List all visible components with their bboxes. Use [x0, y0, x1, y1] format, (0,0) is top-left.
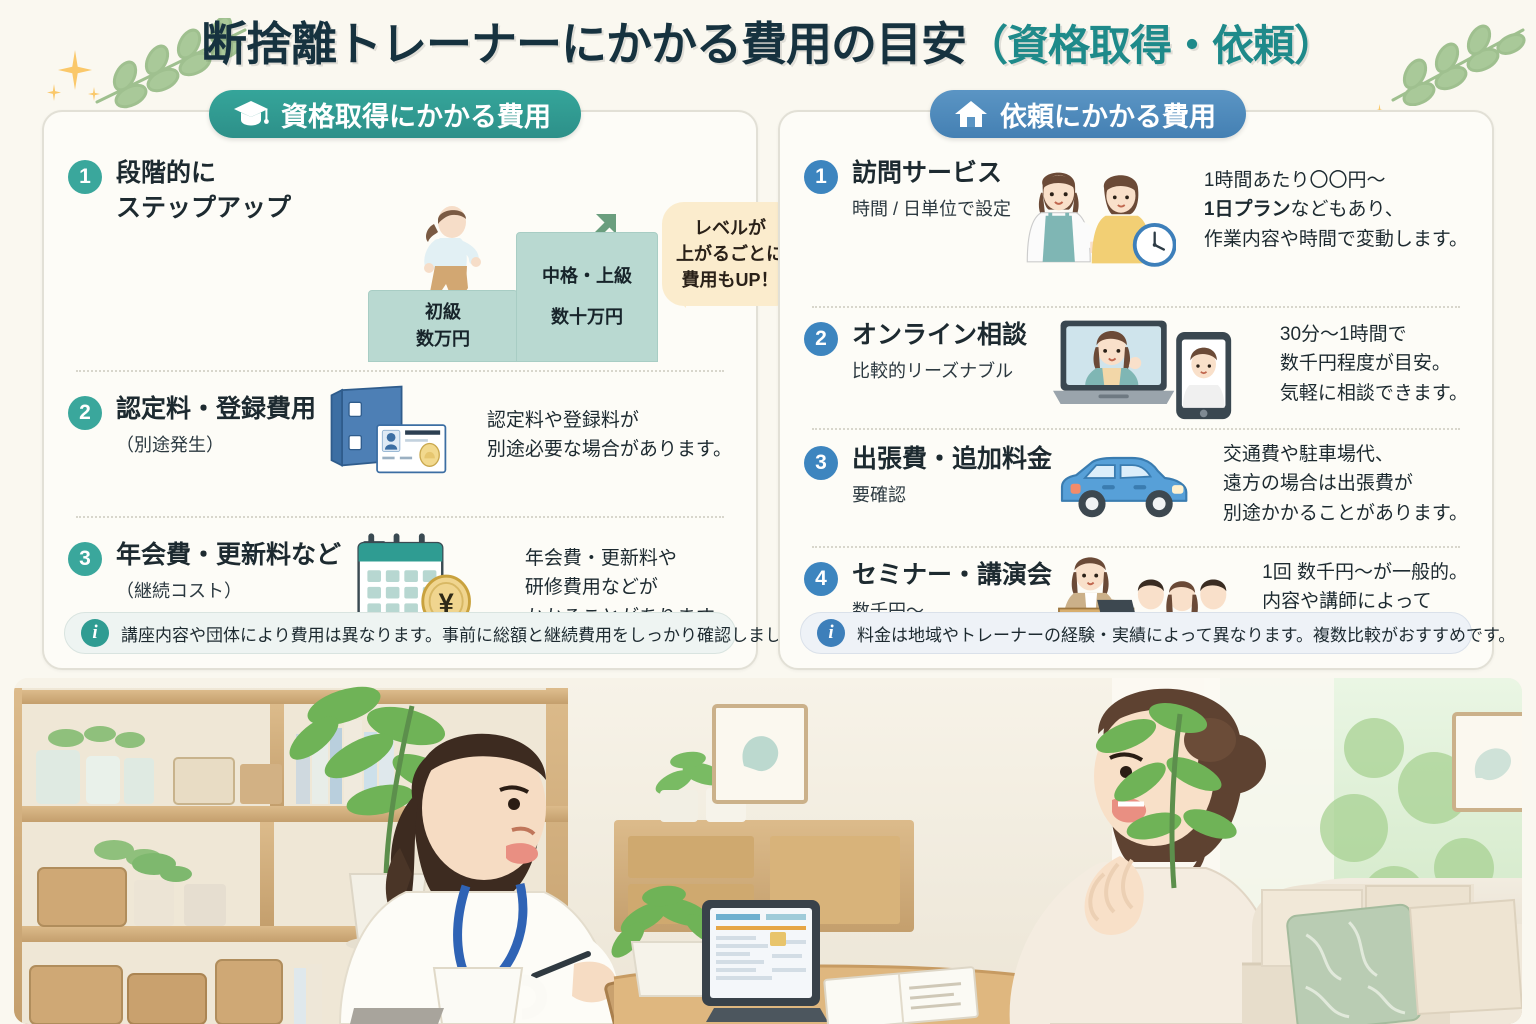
info-icon: i [817, 619, 845, 647]
stairs-chart: 初級 数万円 中格・上級 数十万円 [368, 202, 658, 362]
step-beginner: 初級 数万円 [368, 290, 518, 362]
laptop-smartphone-videocall-icon [1053, 312, 1252, 422]
item-title-line2: ステップアップ [116, 193, 346, 224]
item-number-badge: 2 [68, 396, 102, 430]
list-item-request-3: 3 出張費・追加料金 要確認 交通費や駐車場代、 遠方の場合は出 [804, 430, 1468, 546]
blue-car-icon [1052, 440, 1195, 536]
desc-line-3: 別途かかることがあります。 [1223, 499, 1468, 528]
step-beginner-label: 初級 [425, 299, 461, 326]
list-item-qualification-2: 2 認定料・登録費用 （別途発生） [68, 372, 732, 516]
item-title: セミナー・講演会 [852, 560, 1052, 591]
list-item-request-2: 2 オンライン相談 比較的リーズナブル [804, 308, 1468, 428]
desc-line-1: 認定料や登録料が [487, 406, 732, 435]
desc-line-2: 遠方の場合は出張費が [1223, 469, 1468, 498]
item-title: 出張費・追加料金 [852, 444, 1052, 475]
two-women-talking-clock-icon [1015, 146, 1176, 284]
item-subtitle: 時間 / 日単位で設定 [852, 195, 1015, 221]
item-heading: 認定料・登録費用 （別途発生） [116, 394, 317, 457]
panel-qualification-cost: 資格取得にかかる費用 1 段階的に ステップアップ [42, 110, 758, 670]
item-number-badge: 2 [804, 322, 838, 356]
bubble-line-1: レベルが [694, 215, 766, 241]
item-number-badge: 1 [68, 160, 102, 194]
desc-line-2: 研修費用などが [525, 573, 732, 602]
desc-line-1: 1時間あたり〇〇円〜 [1204, 166, 1468, 195]
desc-bold: 1日プラン [1204, 199, 1291, 220]
note-text: 講座内容や団体により費用は異なります。事前に総額と継続費用をしっかり確認しましょ… [121, 621, 832, 646]
panel-request-cost: 依頼にかかる費用 1 訪問サービス 時間 / 日単位で設定 [778, 110, 1494, 670]
step-beginner-amount: 数万円 [416, 326, 470, 353]
item-number-badge: 4 [804, 562, 838, 596]
item-subtitle: （別途発生） [116, 431, 317, 457]
title-zone: 断捨離トレーナーにかかる費用の目安（資格取得・依頼） [0, 0, 1536, 90]
desc-line-3: 気軽に相談できます。 [1280, 379, 1468, 408]
item-heading: オンライン相談 比較的リーズナブル [852, 320, 1053, 383]
bubble-line-3: 費用もUP！ [681, 267, 778, 293]
step-advanced-label: 中格・上級 [542, 263, 632, 290]
step-advanced: 中格・上級 数十万円 [516, 232, 658, 362]
desc-line-2: 1日プランなどもあり、 [1204, 195, 1468, 224]
item-title: 年会費・更新料など [116, 540, 341, 571]
desc-line-2: 数千円程度が目安。 [1280, 349, 1468, 378]
sparkle-small-icon [47, 84, 61, 101]
desc-rest: などもあり、 [1290, 199, 1403, 220]
panel-left-body: 1 段階的に ステップアップ [44, 112, 756, 668]
sparkle-tiny-icon [88, 87, 100, 101]
item-heading: 年会費・更新料など （継続コスト） [116, 540, 341, 603]
desc-line-1: 交通費や駐車場代、 [1223, 440, 1468, 469]
desc-line-3: 作業内容や時間で変動します。 [1204, 225, 1468, 254]
info-icon: i [81, 619, 109, 647]
note-text: 料金は地域やトレーナーの経験・実績によって異なります。複数比較がおすすめです。 [857, 621, 1515, 646]
binder-certificate-icon [321, 378, 452, 488]
item-title: 認定料・登録費用 [116, 394, 317, 425]
item-subtitle: 比較的リーズナブル [852, 357, 1053, 383]
page-title-main: 断捨離トレーナーにかかる費用の目安 [201, 18, 966, 70]
item-heading: 訪問サービス 時間 / 日単位で設定 [852, 158, 1015, 221]
photo-consultation-scene [14, 678, 1522, 1024]
note-bar-left: i 講座内容や団体により費用は異なります。事前に総額と継続費用をしっかり確認しま… [64, 612, 736, 654]
desc-line-1: 1回 数千円〜が一般的。 [1262, 558, 1468, 587]
desc-line-1: 年会費・更新料や [525, 544, 732, 573]
desc-line-2: 別途必要な場合があります。 [487, 435, 732, 464]
item-description: 30分〜1時間で 数千円程度が目安。 気軽に相談できます。 [1280, 320, 1468, 408]
item-title-line1: 段階的に [116, 158, 346, 189]
item-description: 認定料や登録料が 別途必要な場合があります。 [487, 406, 732, 465]
page-title-sub: （資格取得・依頼） [966, 22, 1335, 69]
item-heading: 段階的に ステップアップ [116, 158, 346, 225]
item-number-badge: 3 [68, 542, 102, 576]
item-subtitle: （継続コスト） [116, 577, 341, 603]
item-subtitle: 要確認 [852, 481, 1052, 507]
note-bar-right: i 料金は地域やトレーナーの経験・実績によって異なります。複数比較がおすすめです… [800, 612, 1472, 654]
step-advanced-amount: 数十万円 [551, 304, 623, 331]
item-number-badge: 3 [804, 446, 838, 480]
page-title: 断捨離トレーナーにかかる費用の目安（資格取得・依頼） [0, 8, 1536, 74]
panel-right-body: 1 訪問サービス 時間 / 日単位で設定 [780, 112, 1492, 668]
bubble-line-2: 上がるごとに [676, 241, 784, 267]
item-number-badge: 1 [804, 160, 838, 194]
item-description: 交通費や駐車場代、 遠方の場合は出張費が 別途かかることがあります。 [1223, 440, 1468, 528]
item-title: オンライン相談 [852, 320, 1053, 351]
item-title: 訪問サービス [852, 158, 1015, 189]
item-description: 1時間あたり〇〇円〜 1日プランなどもあり、 作業内容や時間で変動します。 [1204, 166, 1468, 254]
item-heading: 出張費・追加料金 要確認 [852, 444, 1052, 507]
desc-line-1: 30分〜1時間で [1280, 320, 1468, 349]
list-item-request-1: 1 訪問サービス 時間 / 日単位で設定 [804, 158, 1468, 306]
list-item-qualification-1: 1 段階的に ステップアップ [68, 158, 732, 370]
